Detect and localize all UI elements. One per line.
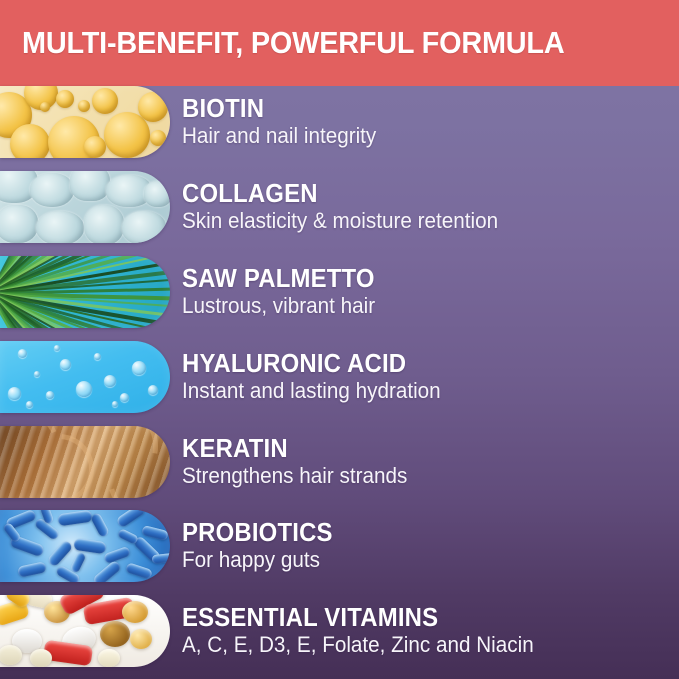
bacteria-rod [115,510,146,528]
ingredient-text: COLLAGEN Skin elasticity & moisture rete… [182,180,679,233]
cyan-water-droplets-swatch [0,341,170,413]
ingredient-text: PROBIOTICS For happy guts [182,519,679,572]
list-item: COLLAGEN Skin elasticity & moisture rete… [0,171,679,243]
ingredient-benefit: Instant and lasting hydration [182,378,649,404]
ingredient-text: HYALURONIC ACID Instant and lasting hydr… [182,350,679,403]
bacteria-rod [47,539,74,567]
ingredient-name: COLLAGEN [182,180,639,207]
blue-collagen-gel-swatch [0,171,170,243]
product-benefits-infographic: MULTI-BENEFIT, POWERFUL FORMULA [0,0,679,679]
list-item: ESSENTIAL VITAMINS A, C, E, D3, E, Folat… [0,595,679,667]
ingredient-text: ESSENTIAL VITAMINS A, C, E, D3, E, Folat… [182,604,679,657]
golden-oil-bubbles-swatch [0,86,170,158]
bacteria-rod [90,512,110,538]
header-banner: MULTI-BENEFIT, POWERFUL FORMULA [0,0,679,86]
ingredient-list: BIOTIN Hair and nail integrity [0,86,679,679]
list-item: KERATIN Strengthens hair strands [0,426,679,498]
list-item: PROBIOTICS For happy guts [0,510,679,582]
bacteria-rod [152,553,170,564]
ingredient-name: KERATIN [182,435,639,462]
bacteria-rod [117,528,139,545]
ingredient-name: SAW PALMETTO [182,265,639,292]
green-palm-frond-swatch [0,256,170,328]
bacteria-rod [17,561,47,578]
ingredient-name: PROBIOTICS [182,519,639,546]
list-item: BIOTIN Hair and nail integrity [0,86,679,158]
blonde-hair-waves-swatch [0,426,170,498]
list-item: SAW PALMETTO Lustrous, vibrant hair [0,256,679,328]
page-title: MULTI-BENEFIT, POWERFUL FORMULA [22,25,564,61]
assorted-pills-capsules-swatch [0,595,170,667]
bacteria-rod [70,552,87,574]
ingredient-name: BIOTIN [182,95,639,122]
blue-bacteria-microscopy-swatch [0,510,170,582]
list-item: HYALURONIC ACID Instant and lasting hydr… [0,341,679,413]
ingredient-benefit: Skin elasticity & moisture retention [182,208,649,234]
ingredient-benefit: Strengthens hair strands [182,463,649,489]
ingredient-benefit: Lustrous, vibrant hair [182,293,649,319]
ingredient-benefit: Hair and nail integrity [182,123,649,149]
ingredient-text: KERATIN Strengthens hair strands [182,435,679,488]
bacteria-rod [125,562,153,580]
bacteria-rod [57,510,92,526]
ingredient-name: HYALURONIC ACID [182,350,639,377]
bacteria-rod [92,560,122,582]
bacteria-rod [73,538,106,554]
bacteria-rod [141,525,169,541]
ingredient-benefit: A, C, E, D3, E, Folate, Zinc and Niacin [182,632,649,658]
ingredient-text: BIOTIN Hair and nail integrity [182,95,679,148]
ingredient-benefit: For happy guts [182,547,649,573]
ingredient-text: SAW PALMETTO Lustrous, vibrant hair [182,265,679,318]
ingredient-name: ESSENTIAL VITAMINS [182,604,639,631]
